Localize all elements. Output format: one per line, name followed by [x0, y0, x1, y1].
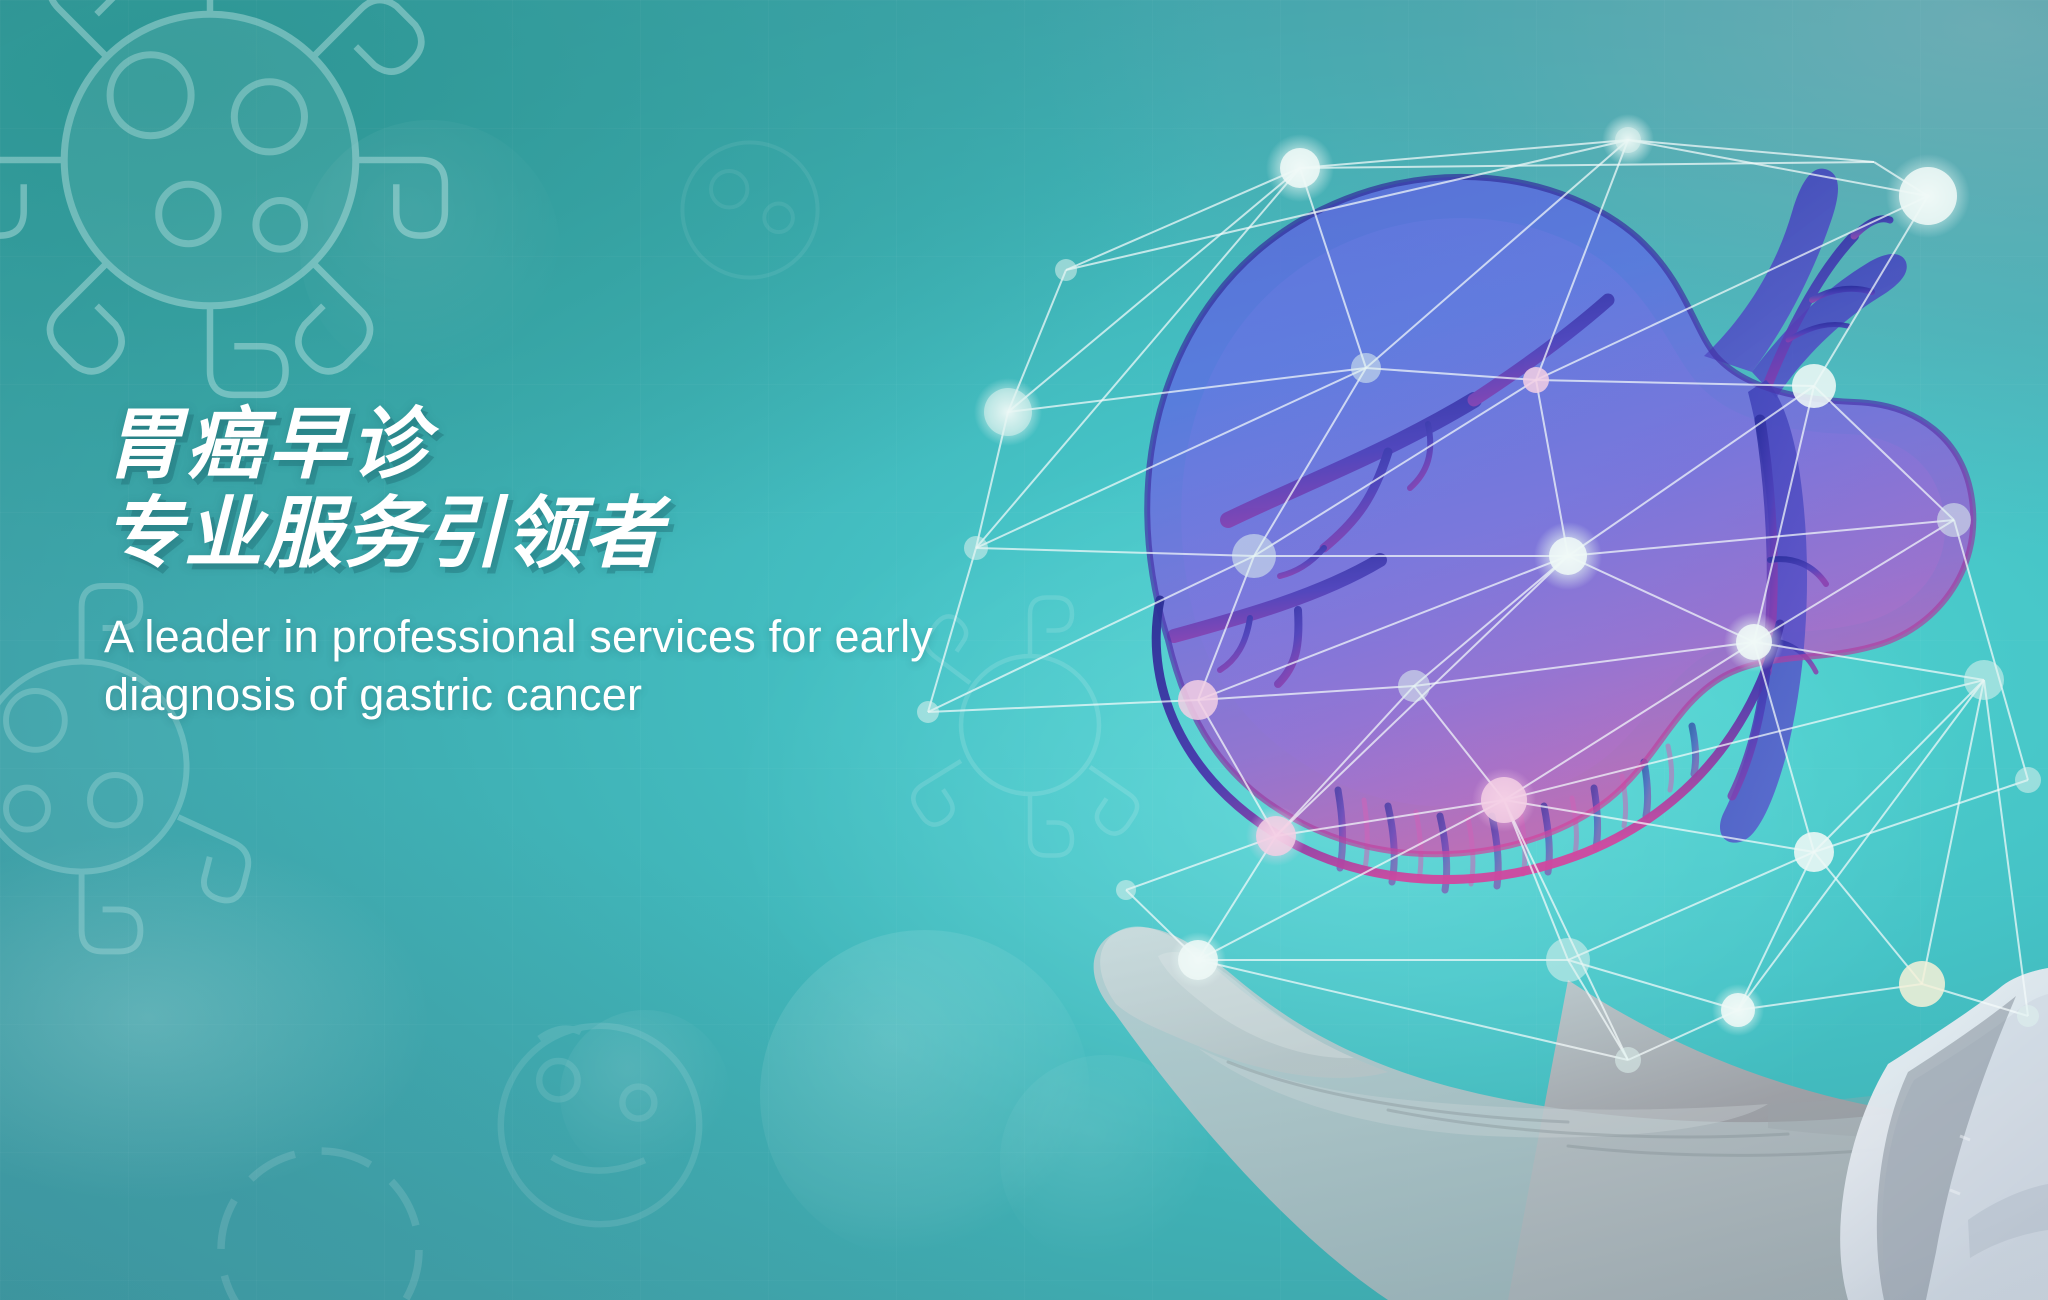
headline-cn-line-1: 胃癌早诊 [104, 400, 1164, 489]
subheadline-en: A leader in professional services for ea… [104, 608, 1114, 725]
banner-root: 胃癌早诊 专业服务引领者 A leader in professional se… [0, 0, 2048, 1300]
headline-block: 胃癌早诊 专业服务引领者 A leader in professional se… [104, 400, 1164, 725]
headline-cn-line-2: 专业服务引领者 [104, 489, 1164, 578]
